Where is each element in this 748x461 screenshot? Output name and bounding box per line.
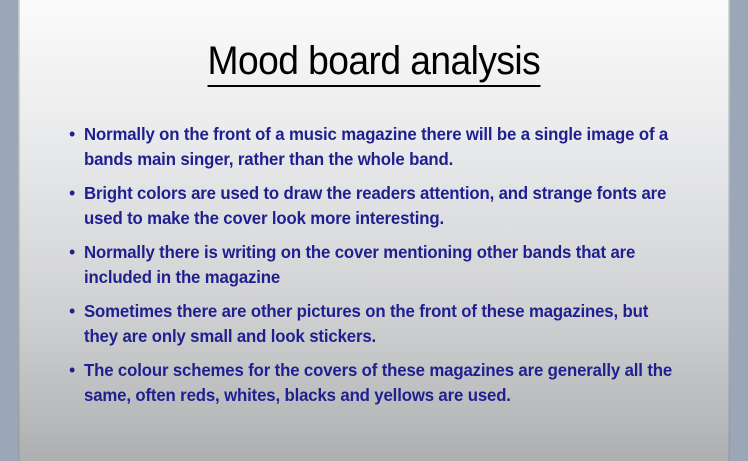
list-item-text: Normally on the front of a music magazin… xyxy=(84,122,673,172)
presentation-slide: Mood board analysis • Normally on the fr… xyxy=(0,0,748,461)
list-item-text: Bright colors are used to draw the reade… xyxy=(84,181,673,231)
slide-canvas: Mood board analysis • Normally on the fr… xyxy=(18,0,730,461)
list-item: • Normally there is writing on the cover… xyxy=(56,240,694,290)
list-item: • Bright colors are used to draw the rea… xyxy=(56,181,694,231)
list-item-text: Normally there is writing on the cover m… xyxy=(84,240,673,290)
list-item: • Sometimes there are other pictures on … xyxy=(56,299,694,349)
list-item-text: The colour schemes for the covers of the… xyxy=(84,358,673,408)
bullet-point-icon: • xyxy=(56,358,84,383)
list-item: • The colour schemes for the covers of t… xyxy=(56,358,694,408)
bullet-point-icon: • xyxy=(56,299,84,324)
slide-title-container: Mood board analysis xyxy=(18,38,730,87)
bullet-point-icon: • xyxy=(56,181,84,206)
list-item-text: Sometimes there are other pictures on th… xyxy=(84,299,673,349)
page-title: Mood board analysis xyxy=(208,38,541,87)
bullet-point-icon: • xyxy=(56,240,84,265)
bullet-list: • Normally on the front of a music magaz… xyxy=(56,122,694,417)
list-item: • Normally on the front of a music magaz… xyxy=(56,122,694,172)
bullet-point-icon: • xyxy=(56,122,84,147)
